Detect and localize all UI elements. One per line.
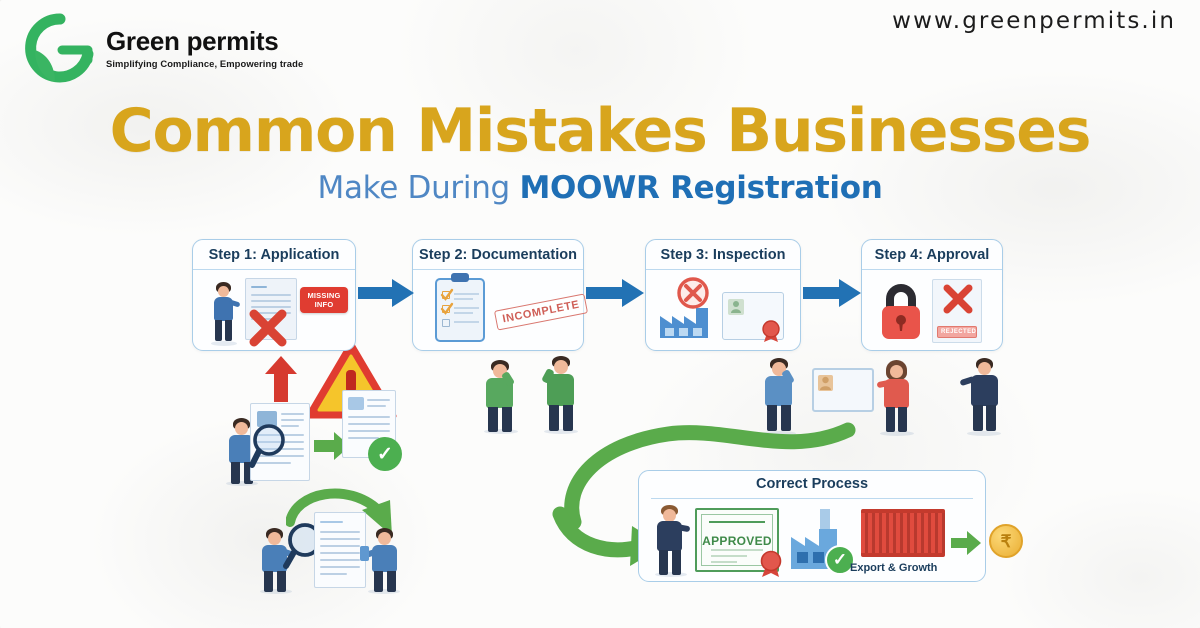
prohibited-icon [676, 276, 710, 310]
red-padlock-icon [876, 279, 926, 343]
step-1-label: Step 1: Application [193, 240, 355, 270]
red-x-icon [247, 308, 289, 348]
businessman-presenting-icon [962, 358, 1006, 436]
rejected-badge: REJECTED [937, 326, 977, 338]
clipboard-checklist-icon [435, 278, 485, 342]
step-3-label: Step 3: Inspection [646, 240, 800, 270]
divider [651, 498, 973, 499]
brand-name: Green permits [106, 28, 303, 54]
step-card-approval[interactable]: Step 4: Approval REJECTED [861, 239, 1003, 351]
document-icon [314, 512, 366, 588]
green-g-leaf-logo-icon [22, 10, 98, 86]
site-url[interactable]: www.greenpermits.in [892, 8, 1176, 34]
rupee-coin-icon: ₹ [989, 524, 1023, 558]
blue-right-arrow-icon [586, 278, 644, 308]
shipping-container-icon [861, 509, 945, 557]
subtitle-prefix: Make During [318, 170, 520, 206]
approved-certificate-icon: APPROVED [695, 508, 779, 572]
step-2-label: Step 2: Documentation [413, 240, 583, 270]
green-check-icon: ✓ [368, 437, 402, 471]
rejected-document-icon: REJECTED [932, 279, 982, 343]
subtitle-highlight: MOOWR Registration [519, 170, 882, 206]
businessman-icon [651, 505, 691, 577]
id-certificate-card-icon [812, 368, 874, 412]
magnifier-icon [249, 423, 291, 469]
person-icon [209, 282, 239, 346]
step-card-inspection[interactable]: Step 3: Inspection [645, 239, 801, 351]
red-up-arrow-icon [264, 356, 298, 407]
blue-right-arrow-icon [358, 278, 414, 308]
person-with-phone-icon [364, 528, 404, 594]
step-card-documentation[interactable]: Step 2: Documentation INCOMPLETE [412, 239, 584, 351]
missing-info-badge: MISSING INFO [300, 287, 348, 313]
green-right-arrow-icon [951, 531, 981, 560]
page-title: Common Mistakes Businesses [0, 96, 1200, 166]
blue-right-arrow-icon [803, 278, 861, 308]
step-4-label: Step 4: Approval [862, 240, 1002, 270]
rupee-symbol: ₹ [1001, 533, 1012, 550]
brand-logo[interactable]: Green permits Simplifying Compliance, Em… [22, 10, 303, 86]
certificate-icon [722, 292, 784, 340]
approved-label: APPROVED [697, 534, 777, 548]
brand-tagline: Simplifying Compliance, Empowering trade [106, 58, 303, 69]
incomplete-stamp-icon: INCOMPLETE [494, 293, 588, 330]
step-card-application[interactable]: Step 1: Application MISSING INFO [192, 239, 356, 351]
woman-pointing-icon [876, 360, 918, 436]
correct-process-title: Correct Process [639, 476, 985, 492]
page-subtitle: Make During MOOWR Registration [0, 170, 1200, 206]
export-growth-label: Export & Growth [850, 562, 937, 574]
